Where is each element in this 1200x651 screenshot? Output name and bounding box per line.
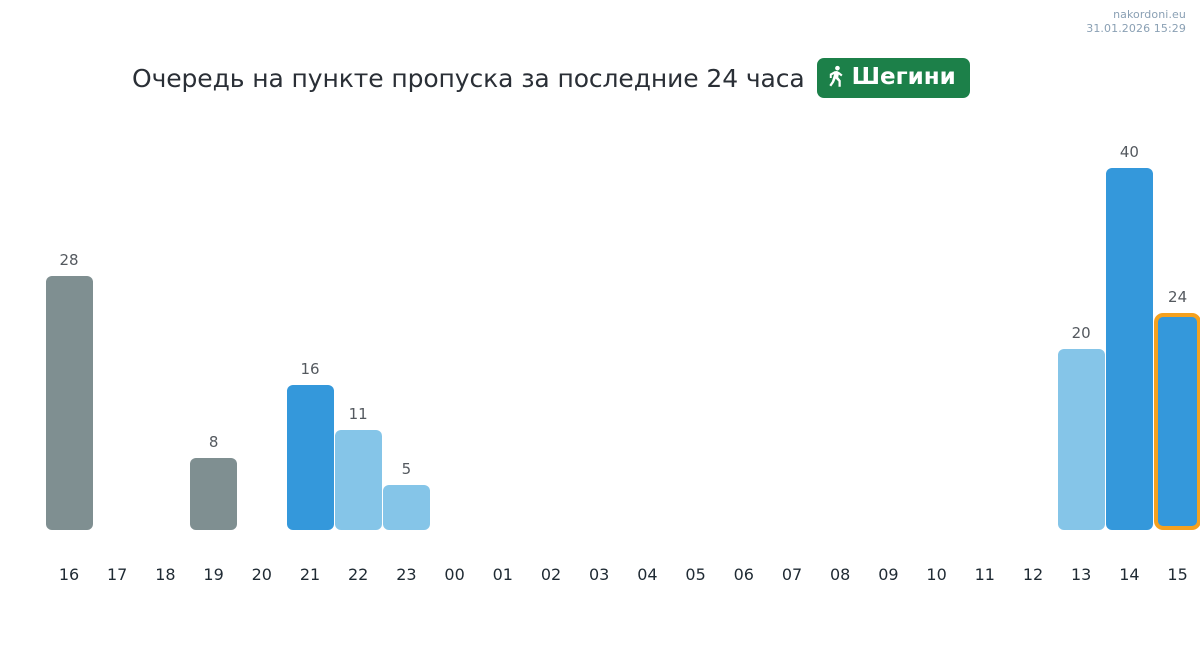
x-axis-label: 16 — [45, 567, 93, 583]
bar[interactable] — [46, 276, 93, 530]
bar-slot: 5 — [382, 462, 430, 530]
x-axis-label: 00 — [431, 567, 479, 583]
x-axis-label: 07 — [768, 567, 816, 583]
bar-value-label: 24 — [1168, 290, 1187, 305]
x-axis-label: 10 — [913, 567, 961, 583]
x-axis-label: 22 — [334, 567, 382, 583]
x-axis-label: 21 — [286, 567, 334, 583]
bar-slot: 20 — [1057, 326, 1105, 530]
x-axis-label: 04 — [623, 567, 671, 583]
x-axis-label: 13 — [1057, 567, 1105, 583]
bar[interactable] — [1106, 168, 1153, 530]
x-axis-label: 11 — [961, 567, 1009, 583]
bar-value-label: 40 — [1120, 145, 1139, 160]
x-axis-label: 06 — [720, 567, 768, 583]
bar-value-label: 11 — [349, 407, 368, 422]
bar-value-label: 5 — [402, 462, 412, 477]
x-axis-label: 01 — [479, 567, 527, 583]
x-axis-label: 18 — [141, 567, 189, 583]
bar-slot: 28 — [45, 253, 93, 530]
x-axis-label: 15 — [1154, 567, 1200, 583]
bar[interactable] — [1154, 313, 1200, 530]
bar[interactable] — [383, 485, 430, 530]
x-axis-label: 02 — [527, 567, 575, 583]
x-axis-label: 12 — [1009, 567, 1057, 583]
x-axis-label: 17 — [93, 567, 141, 583]
bar-slot: 8 — [190, 435, 238, 530]
bar-slot: 24 — [1154, 290, 1200, 530]
x-axis-label: 09 — [864, 567, 912, 583]
x-axis-label: 08 — [816, 567, 864, 583]
bar-value-label: 8 — [209, 435, 219, 450]
bar-value-label: 28 — [59, 253, 78, 268]
bar[interactable] — [335, 430, 382, 530]
x-axis-label: 03 — [575, 567, 623, 583]
x-axis-label: 14 — [1105, 567, 1153, 583]
bar-value-label: 20 — [1072, 326, 1091, 341]
bar[interactable] — [1058, 349, 1105, 530]
x-axis-label: 19 — [190, 567, 238, 583]
bar-slot: 11 — [334, 407, 382, 530]
bar-value-label: 16 — [300, 362, 319, 377]
bar-chart-plot: 2816171881920162111225230001020304050607… — [0, 0, 1200, 651]
bar[interactable] — [287, 385, 334, 530]
x-axis-label: 23 — [382, 567, 430, 583]
x-axis-label: 05 — [672, 567, 720, 583]
bar-slot: 16 — [286, 362, 334, 530]
bar[interactable] — [190, 458, 237, 530]
x-axis-label: 20 — [238, 567, 286, 583]
bar-slot: 40 — [1105, 145, 1153, 530]
